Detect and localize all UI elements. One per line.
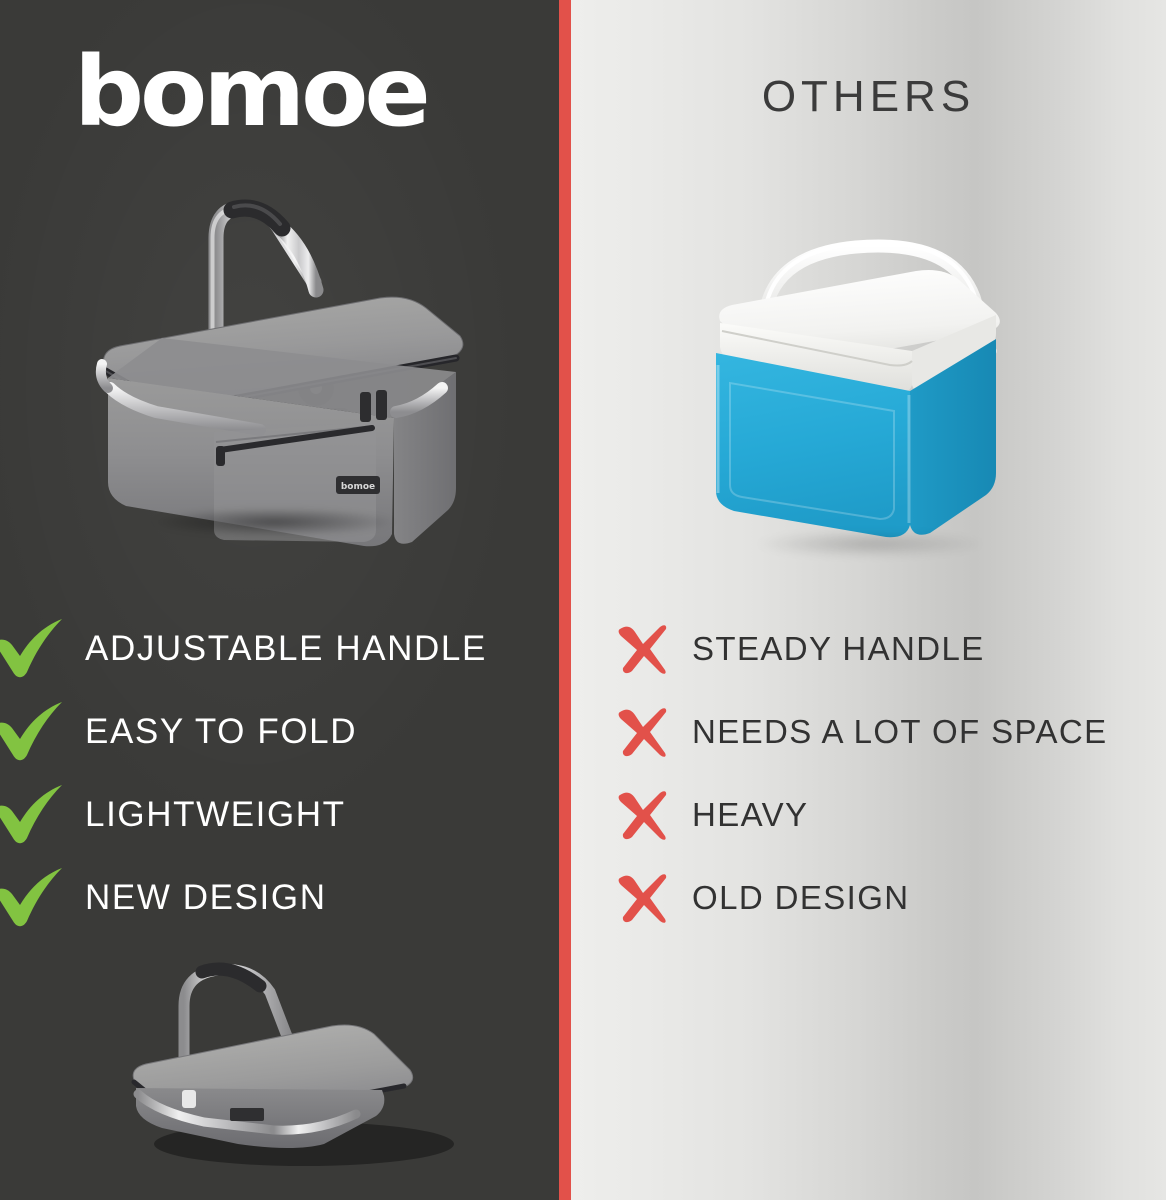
feature-label: STEADY HANDLE [692,630,985,668]
feature-list-others: STEADY HANDLE NEEDS A LOT OF SPACE HEAVY [605,607,1150,939]
check-icon [0,700,64,764]
feature-row: NEEDS A LOT OF SPACE [605,690,1150,773]
product-image-competitor-cooler [690,205,1050,565]
right-panel-others [571,0,1166,1200]
feature-label: EASY TO FOLD [85,712,357,752]
product-image-bomoe-basket-folded [118,930,488,1190]
cooler-drop-shadow [710,525,1030,563]
center-divider [559,0,571,1200]
feature-row: HEAVY [605,773,1150,856]
feature-row: EASY TO FOLD [0,690,559,773]
basket-brand-tag-text: bomoe [341,482,375,492]
feature-label: NEEDS A LOT OF SPACE [692,713,1108,751]
feature-row: OLD DESIGN [605,856,1150,939]
cross-icon [616,872,668,924]
feature-label: LIGHTWEIGHT [85,795,346,835]
basket-brand-tag: bomoe [336,476,380,494]
feature-row: LIGHTWEIGHT [0,773,559,856]
check-icon [0,866,64,930]
feature-row: ADJUSTABLE HANDLE [0,607,559,690]
brand-logo-bomoe: bomoe [74,44,427,140]
cooler-illustration [690,205,1050,565]
feature-label: ADJUSTABLE HANDLE [85,629,487,669]
cross-icon [616,623,668,675]
others-title: OTHERS [571,72,1166,122]
check-icon [0,783,64,847]
comparison-infographic: bomoe OTHERS [0,0,1166,1200]
cross-icon [616,706,668,758]
feature-row: STEADY HANDLE [605,607,1150,690]
feature-list-bomoe: ADJUSTABLE HANDLE EASY TO FOLD LIGHTWEIG… [0,607,559,939]
feature-label: OLD DESIGN [692,879,910,917]
basket-drop-shadow [104,502,444,542]
folded-basket-illustration [118,930,488,1190]
feature-label: HEAVY [692,796,808,834]
feature-row: NEW DESIGN [0,856,559,939]
cross-icon [616,789,668,841]
feature-label: NEW DESIGN [85,878,327,918]
check-icon [0,617,64,681]
product-image-bomoe-basket: bomoe [64,150,484,570]
